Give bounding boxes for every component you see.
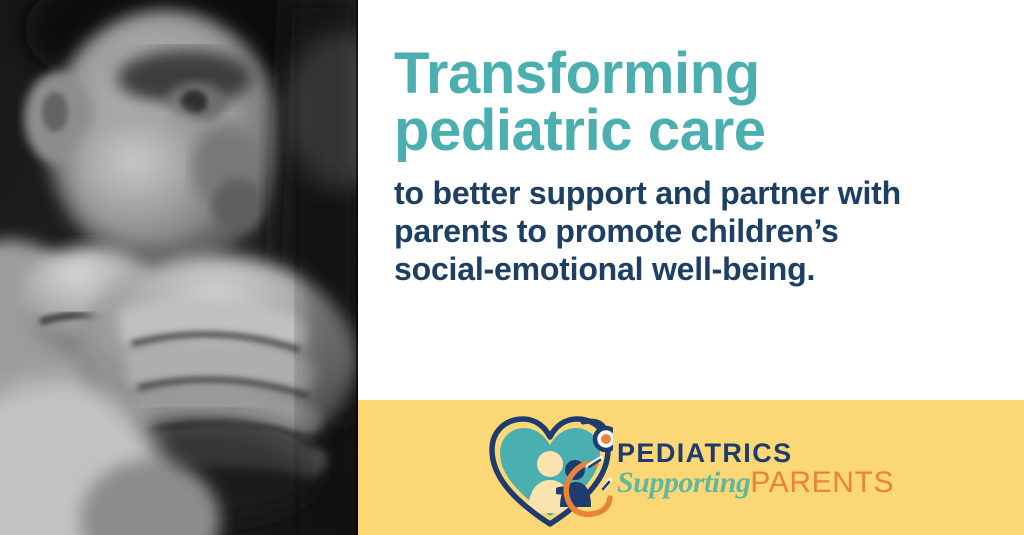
promotional-banner: Transforming pediatric care to better su… (0, 0, 1024, 535)
headline-line-1: Transforming (394, 46, 1008, 103)
page-subtitle: to better support and partner with paren… (394, 174, 1008, 289)
wordmark-second-line: SupportingPARENTS (617, 468, 894, 498)
footer-band: PEDIATRICS SupportingPARENTS (358, 400, 1024, 535)
hero-photo (0, 0, 358, 535)
headline-block: Transforming pediatric care to better su… (394, 46, 1008, 289)
subhead-line-3: social-emotional well-being. (394, 250, 1008, 288)
wordmark-supporting: Supporting (617, 466, 750, 499)
headline-line-2: pediatric care (394, 103, 1008, 160)
subhead-line-2: parents to promote children’s (394, 212, 1008, 250)
wordmark-pediatrics: PEDIATRICS (617, 440, 894, 467)
subhead-line-1: to better support and partner with (394, 174, 1008, 212)
heart-with-parent-child-and-stethoscope-icon (488, 408, 613, 530)
page-title: Transforming pediatric care (394, 46, 1008, 160)
wordmark-parents: PARENTS (750, 466, 894, 499)
child-hands-photograph (0, 0, 358, 535)
stethoscope-chestpiece (595, 428, 613, 450)
logo-wordmark: PEDIATRICS SupportingPARENTS (617, 440, 894, 498)
organization-logo: PEDIATRICS SupportingPARENTS (488, 406, 908, 531)
